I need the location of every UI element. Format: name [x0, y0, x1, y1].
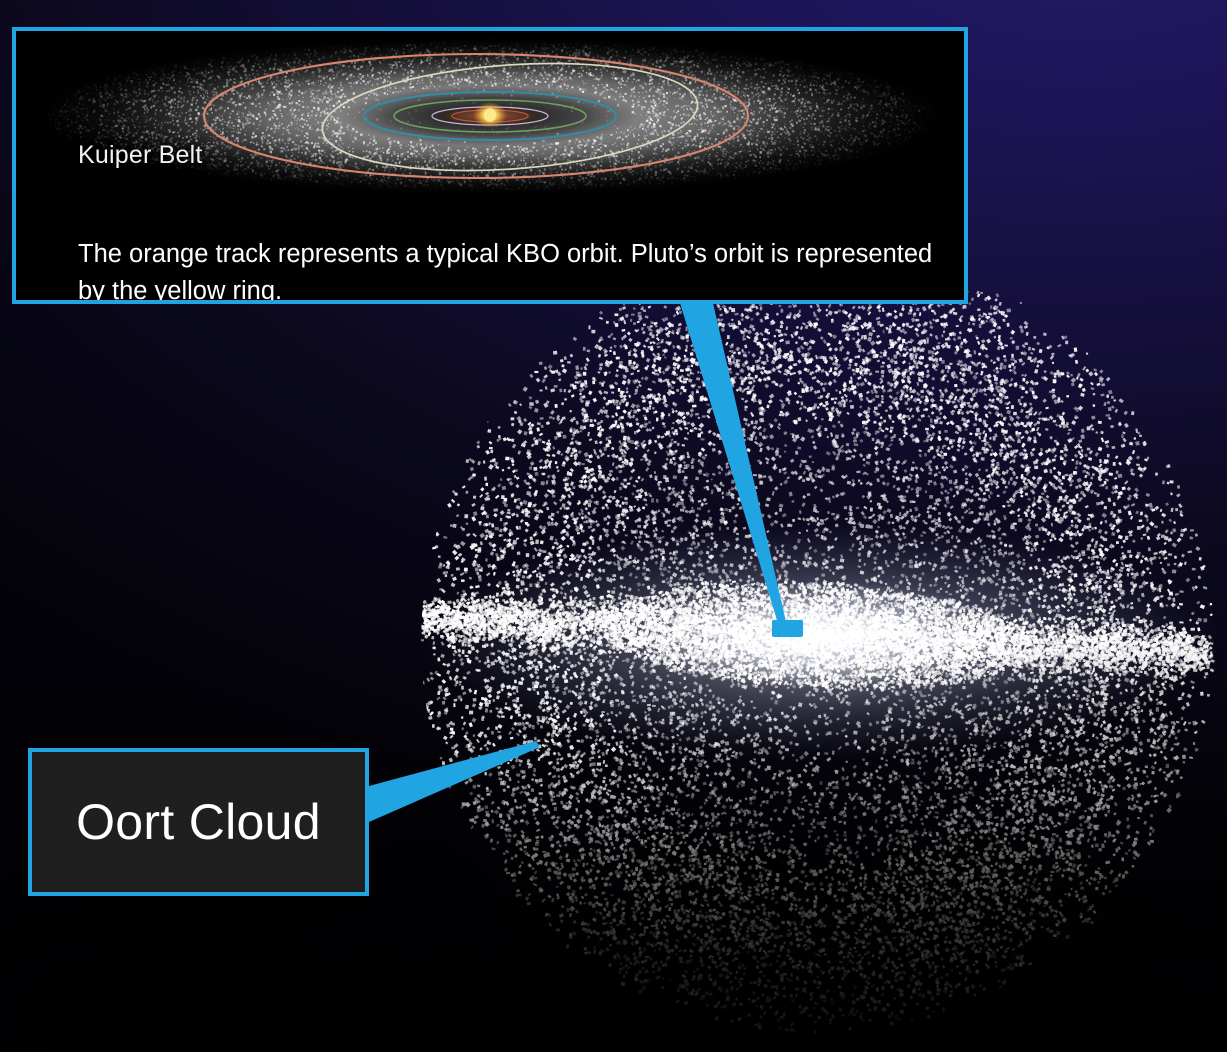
kuiper-belt-caption: The orange track represents a typical KB…	[78, 236, 958, 304]
oort-cloud-label: Oort Cloud	[28, 748, 369, 896]
kuiper-belt-label: Kuiper Belt	[78, 141, 203, 170]
oort-cloud-label-text: Oort Cloud	[76, 797, 321, 847]
figure-canvas: Kuiper Belt The orange track represents …	[0, 0, 1227, 1052]
kuiper-belt-orbit-diagram	[16, 31, 964, 201]
kuiper-belt-illustration	[16, 31, 964, 201]
sun-icon	[484, 108, 496, 122]
kuiper-belt-inset-panel: Kuiper Belt The orange track represents …	[12, 27, 968, 304]
